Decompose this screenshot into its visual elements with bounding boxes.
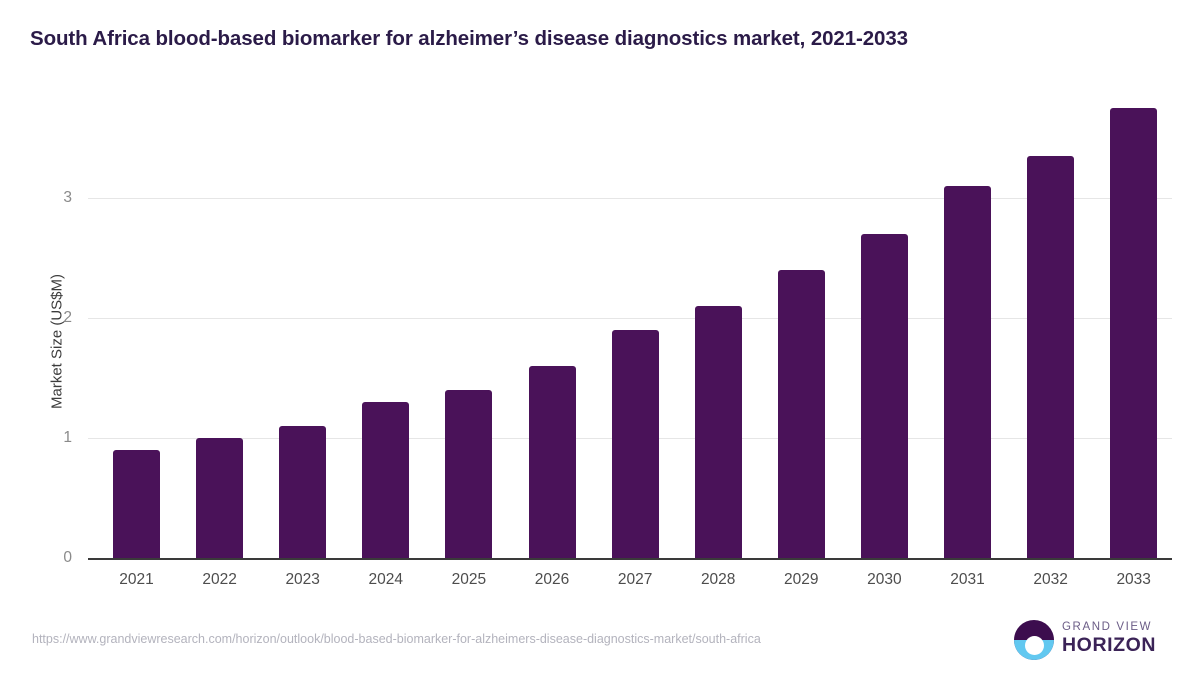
x-axis-tick-label-2026: 2026 (512, 571, 592, 589)
y-axis-tick-label: 3 (12, 189, 72, 207)
bar-2030[interactable] (861, 234, 908, 558)
bar-2031[interactable] (944, 186, 991, 558)
plot-area-wrapper: Market Size (US$M) 0123 2021202220232024… (0, 0, 1200, 675)
x-axis-tick-label-2024: 2024 (346, 571, 426, 589)
x-axis-tick-label-2030: 2030 (844, 571, 924, 589)
bar-2021[interactable] (113, 450, 160, 558)
plot-area: 0123 20212022202320242025202620272028202… (88, 95, 1172, 558)
grand-view-horizon-logo: GRAND VIEW HORIZON (1014, 618, 1164, 662)
logo-ray-2 (1028, 650, 1040, 652)
x-axis-tick-label-2029: 2029 (761, 571, 841, 589)
bar-2026[interactable] (529, 366, 576, 558)
x-axis-tick-label-2021: 2021 (97, 571, 177, 589)
source-url[interactable]: https://www.grandviewresearch.com/horizo… (32, 630, 947, 649)
bar-series (88, 95, 1172, 558)
bar-2029[interactable] (778, 270, 825, 558)
logo-text-horizon: HORIZON (1062, 634, 1156, 657)
y-axis-tick-label: 1 (12, 429, 72, 447)
bar-2025[interactable] (445, 390, 492, 558)
x-axis-tick-label-2027: 2027 (595, 571, 675, 589)
logo-ray-1 (1026, 645, 1043, 647)
y-axis-title: Market Size (US$M) (49, 227, 66, 457)
y-axis-tick-label: 2 (12, 309, 72, 327)
x-axis-tick-label-2023: 2023 (263, 571, 343, 589)
x-axis-tick-label-2031: 2031 (928, 571, 1008, 589)
bar-2027[interactable] (612, 330, 659, 558)
y-axis-tick-label: 0 (12, 549, 72, 567)
bar-2024[interactable] (362, 402, 409, 558)
logo-wordmark: GRAND VIEW HORIZON (1062, 621, 1156, 657)
logo-text-grand-view: GRAND VIEW (1062, 621, 1156, 633)
bar-2022[interactable] (196, 438, 243, 558)
x-axis-tick-label-2022: 2022 (180, 571, 260, 589)
bar-2028[interactable] (695, 306, 742, 558)
x-axis-tick-label-2032: 2032 (1011, 571, 1091, 589)
chart-card: South Africa blood-based biomarker for a… (0, 0, 1200, 675)
x-axis-tick-label-2028: 2028 (678, 571, 758, 589)
x-axis-tick-label-2025: 2025 (429, 571, 509, 589)
bar-2032[interactable] (1027, 156, 1074, 558)
horizon-sun-icon (1014, 620, 1054, 660)
bar-2033[interactable] (1110, 108, 1157, 558)
x-axis-tick-label-2033: 2033 (1094, 571, 1174, 589)
x-axis-line (88, 558, 1172, 560)
bar-2023[interactable] (279, 426, 326, 558)
